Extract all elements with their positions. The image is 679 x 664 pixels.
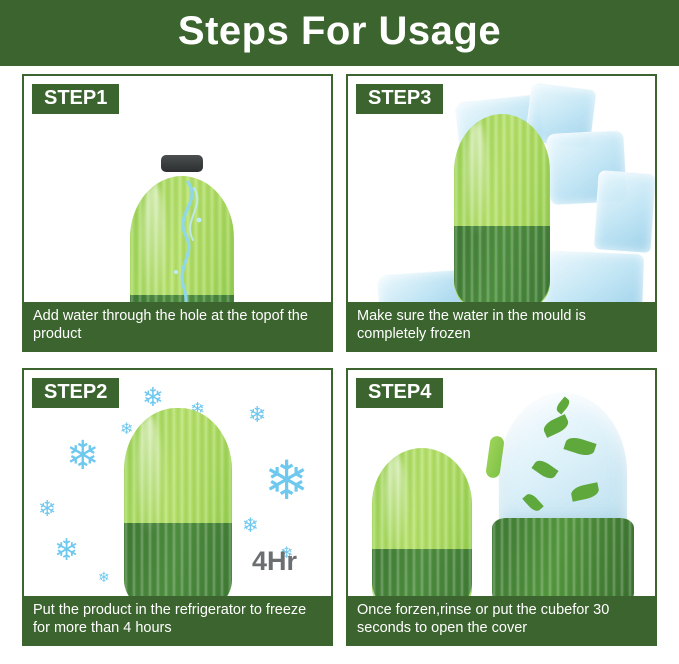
snowflake-icon: ❄ [54, 536, 79, 566]
steps-grid: STEP1 Add water through the hole at the … [22, 74, 657, 646]
caption-step2: Put the product in the refrigerator to f… [24, 596, 331, 644]
snowflake-icon: ❄ [264, 454, 309, 508]
ice-dome-icon [498, 392, 628, 530]
ice-cubes-icon [593, 170, 656, 254]
header-banner: Steps For Usage [0, 0, 679, 66]
panel-step3: STEP3 Make sure the water in the mould i… [346, 74, 657, 352]
leaf-icon [554, 396, 571, 414]
snowflake-icon: ❄ [242, 516, 259, 536]
snowflake-icon: ❄ [142, 384, 164, 410]
leaf-icon [522, 491, 544, 513]
roller-mould-icon [124, 408, 232, 614]
step-tag-3: STEP3 [356, 84, 443, 114]
cap-icon [161, 155, 203, 172]
caption-step1: Add water through the hole at the topof … [24, 302, 331, 350]
duration-badge: 4Hr [252, 546, 297, 577]
roller-mould-icon [454, 114, 550, 314]
step-tag-2: STEP2 [32, 378, 119, 408]
roller-gloss [384, 455, 406, 552]
caption-step3: Make sure the water in the mould is comp… [348, 302, 655, 350]
leaf-icon [570, 482, 600, 502]
snowflake-icon: ❄ [38, 498, 56, 520]
usage-steps-infographic: Steps For Usage STEP1 Add water throug [0, 0, 679, 664]
snowflake-icon: ❄ [66, 436, 100, 476]
page-title: Steps For Usage [178, 11, 501, 55]
snowflake-icon: ❄ [98, 570, 110, 584]
caption-step4: Once forzen,rinse or put the cubefor 30 … [348, 596, 655, 644]
roller-mould-icon [372, 448, 472, 616]
panel-step2: STEP2 ❄ ❄ ❄ ❄ ❄ ❄ ❄ ❄ ❄ ❄ ❄ ❄ 4Hr Put th… [22, 368, 333, 646]
step-tag-1: STEP1 [32, 84, 119, 114]
leaf-icon [531, 457, 558, 481]
snowflake-icon: ❄ [248, 404, 266, 426]
roller-gloss [466, 122, 487, 238]
leaf-icon [563, 435, 596, 459]
panel-step1: STEP1 Add water through the hole at the … [22, 74, 333, 352]
step-tag-4: STEP4 [356, 378, 443, 408]
roller-gloss [137, 416, 161, 535]
panel-step4: STEP4 Once forzen,rins [346, 368, 657, 646]
leaf-icon [541, 414, 570, 438]
